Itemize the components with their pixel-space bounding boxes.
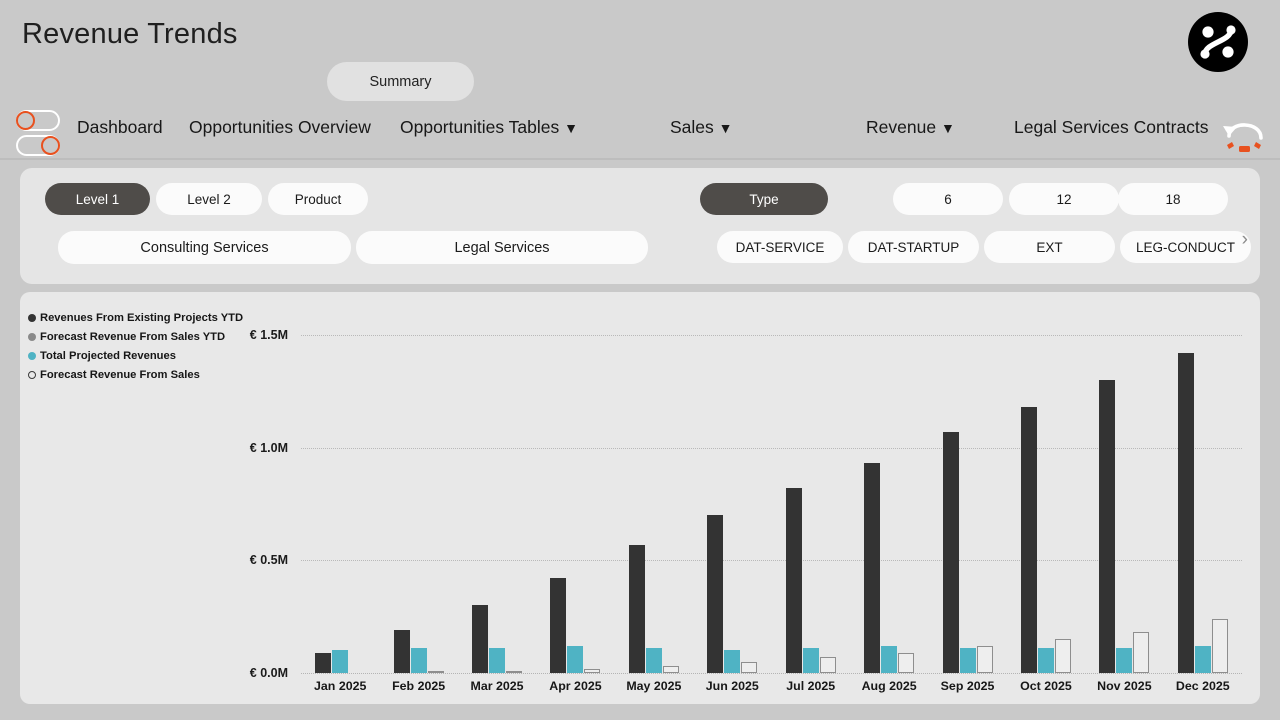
filter-chip-dat-startup[interactable]: DAT-STARTUP — [848, 231, 979, 263]
bar-forecast-revenue-from-sales[interactable] — [741, 662, 757, 673]
filter-chip-months-6[interactable]: 6 — [893, 183, 1003, 215]
nav-item-revenue[interactable]: Revenue ▼ — [866, 117, 955, 138]
bar-existing-projects-ytd[interactable] — [550, 578, 566, 673]
bar-forecast-revenue-from-sales[interactable] — [898, 653, 914, 673]
y-axis-tick-label: € 0.0M — [216, 666, 288, 680]
bar-existing-projects-ytd[interactable] — [472, 605, 488, 673]
x-axis-tick-label: Nov 2025 — [1097, 679, 1151, 693]
chip-label: Product — [295, 192, 342, 207]
chip-label: DAT-STARTUP — [868, 240, 960, 255]
nav-label: Dashboard — [77, 117, 163, 137]
nav-item-dashboard[interactable]: Dashboard — [77, 117, 163, 138]
nav-item-opportunities-overview[interactable]: Opportunities Overview — [189, 117, 371, 138]
y-axis-tick-label: € 1.5M — [216, 328, 288, 342]
chip-label: Legal Services — [454, 240, 549, 256]
chip-label: EXT — [1036, 240, 1062, 255]
bar-forecast-revenue-from-sales[interactable] — [977, 646, 993, 673]
bar-existing-projects-ytd[interactable] — [394, 630, 410, 673]
chevron-down-icon[interactable]: ▼ — [564, 120, 578, 136]
x-axis-tick-label: Jun 2025 — [706, 679, 759, 693]
bar-forecast-revenue-from-sales[interactable] — [584, 669, 600, 674]
filter-chip-legal-services[interactable]: Legal Services — [356, 231, 648, 264]
nav-label: Legal Services Contracts — [1014, 117, 1209, 137]
toggle-switch-on-icon[interactable] — [16, 135, 60, 156]
gridline — [301, 335, 1242, 336]
filter-chip-months-12[interactable]: 12 — [1009, 183, 1119, 215]
dashboard-app: Revenue Trends Summary — [0, 0, 1280, 720]
header-divider — [0, 158, 1280, 160]
filter-chip-ext[interactable]: EXT — [984, 231, 1115, 263]
bar-existing-projects-ytd[interactable] — [864, 463, 880, 673]
filter-panel: Level 1 Level 2 Product Consulting Servi… — [20, 168, 1260, 284]
y-axis-tick-label: € 1.0M — [216, 441, 288, 455]
filter-chip-level-2[interactable]: Level 2 — [156, 183, 262, 215]
bar-total-projected-revenues[interactable] — [646, 648, 662, 673]
nav-item-sales[interactable]: Sales ▼ — [670, 117, 733, 138]
chip-label: 6 — [944, 192, 952, 207]
x-axis-tick-label: Oct 2025 — [1020, 679, 1072, 693]
toggle-knob — [41, 136, 60, 155]
app-header: Revenue Trends Summary — [0, 0, 1280, 160]
bar-forecast-revenue-from-sales[interactable] — [663, 666, 679, 673]
filter-chip-level-1[interactable]: Level 1 — [45, 183, 150, 215]
bar-existing-projects-ytd[interactable] — [943, 432, 959, 673]
x-axis-tick-label: May 2025 — [626, 679, 681, 693]
filter-chip-consulting-services[interactable]: Consulting Services — [58, 231, 351, 264]
chip-label: Level 1 — [76, 192, 120, 207]
bar-total-projected-revenues[interactable] — [567, 646, 583, 673]
nav-label: Sales — [670, 117, 714, 137]
chip-label: Level 2 — [187, 192, 231, 207]
toggle-group[interactable] — [12, 110, 64, 158]
x-axis-tick-label: Mar 2025 — [471, 679, 524, 693]
chip-label: Consulting Services — [140, 240, 268, 256]
undo-reset-icon[interactable] — [1220, 108, 1272, 158]
main-nav: Dashboard Opportunities Overview Opportu… — [0, 110, 1280, 154]
chevron-right-icon[interactable]: › — [1242, 230, 1248, 249]
x-axis-tick-label: Dec 2025 — [1176, 679, 1230, 693]
chip-label: 18 — [1165, 192, 1180, 207]
filter-chip-leg-conduct[interactable]: LEG-CONDUCT — [1120, 231, 1251, 263]
chevron-down-icon[interactable]: ▼ — [941, 120, 955, 136]
nav-label: Opportunities Tables — [400, 117, 559, 137]
bar-total-projected-revenues[interactable] — [724, 650, 740, 673]
revenue-chart-panel: Revenues From Existing Projects YTD Fore… — [20, 292, 1260, 704]
page-title: Revenue Trends — [22, 18, 238, 51]
x-axis-tick-label: Sep 2025 — [941, 679, 995, 693]
bar-existing-projects-ytd[interactable] — [707, 515, 723, 673]
bar-forecast-revenue-from-sales[interactable] — [506, 671, 522, 673]
bar-existing-projects-ytd[interactable] — [629, 545, 645, 673]
x-axis-tick-label: Aug 2025 — [862, 679, 917, 693]
filter-chip-type[interactable]: Type — [700, 183, 828, 215]
bar-forecast-revenue-from-sales[interactable] — [428, 671, 444, 673]
bar-total-projected-revenues[interactable] — [332, 650, 348, 673]
bar-total-projected-revenues[interactable] — [881, 646, 897, 673]
bar-existing-projects-ytd[interactable] — [315, 653, 331, 673]
bar-existing-projects-ytd[interactable] — [1099, 380, 1115, 673]
bar-total-projected-revenues[interactable] — [803, 648, 819, 673]
x-axis-tick-label: Apr 2025 — [549, 679, 601, 693]
filter-chip-dat-service[interactable]: DAT-SERVICE — [717, 231, 843, 263]
chart-plot-area: € 0.0M€ 0.5M€ 1.0M€ 1.5MJan 2025Feb 2025… — [20, 292, 1260, 704]
bar-total-projected-revenues[interactable] — [1116, 648, 1132, 673]
bar-existing-projects-ytd[interactable] — [786, 488, 802, 673]
bar-total-projected-revenues[interactable] — [1195, 646, 1211, 673]
y-axis-tick-label: € 0.5M — [216, 553, 288, 567]
nav-label: Revenue — [866, 117, 936, 137]
tab-summary-label: Summary — [369, 74, 431, 90]
chip-label: DAT-SERVICE — [736, 240, 825, 255]
bar-forecast-revenue-from-sales[interactable] — [1133, 632, 1149, 673]
bar-total-projected-revenues[interactable] — [1038, 648, 1054, 673]
chevron-down-icon[interactable]: ▼ — [719, 120, 733, 136]
x-axis-tick-label: Feb 2025 — [392, 679, 445, 693]
x-axis-tick-label: Jan 2025 — [314, 679, 366, 693]
bar-forecast-revenue-from-sales[interactable] — [1055, 639, 1071, 673]
filter-chip-product[interactable]: Product — [268, 183, 368, 215]
filter-chip-months-18[interactable]: 18 — [1118, 183, 1228, 215]
nav-item-legal-services-contracts[interactable]: Legal Services Contracts — [1014, 117, 1209, 138]
chip-label: Type — [749, 192, 778, 207]
brand-logo-icon — [1188, 12, 1248, 72]
bar-existing-projects-ytd[interactable] — [1021, 407, 1037, 673]
bar-forecast-revenue-from-sales[interactable] — [1212, 619, 1228, 673]
x-axis-tick-label: Jul 2025 — [786, 679, 835, 693]
x-axis-line — [301, 673, 1242, 674]
toggle-knob — [16, 111, 35, 130]
chip-label: LEG-CONDUCT — [1136, 240, 1235, 255]
nav-label: Opportunities Overview — [189, 117, 371, 137]
chip-label: 12 — [1056, 192, 1071, 207]
bar-forecast-revenue-from-sales[interactable] — [820, 657, 836, 673]
tab-summary[interactable]: Summary — [327, 62, 474, 101]
bar-total-projected-revenues[interactable] — [489, 648, 505, 673]
bar-existing-projects-ytd[interactable] — [1178, 353, 1194, 673]
nav-item-opportunities-tables[interactable]: Opportunities Tables ▼ — [400, 117, 578, 138]
bar-total-projected-revenues[interactable] — [960, 648, 976, 673]
bar-total-projected-revenues[interactable] — [411, 648, 427, 673]
toggle-switch-off-icon[interactable] — [16, 110, 60, 131]
